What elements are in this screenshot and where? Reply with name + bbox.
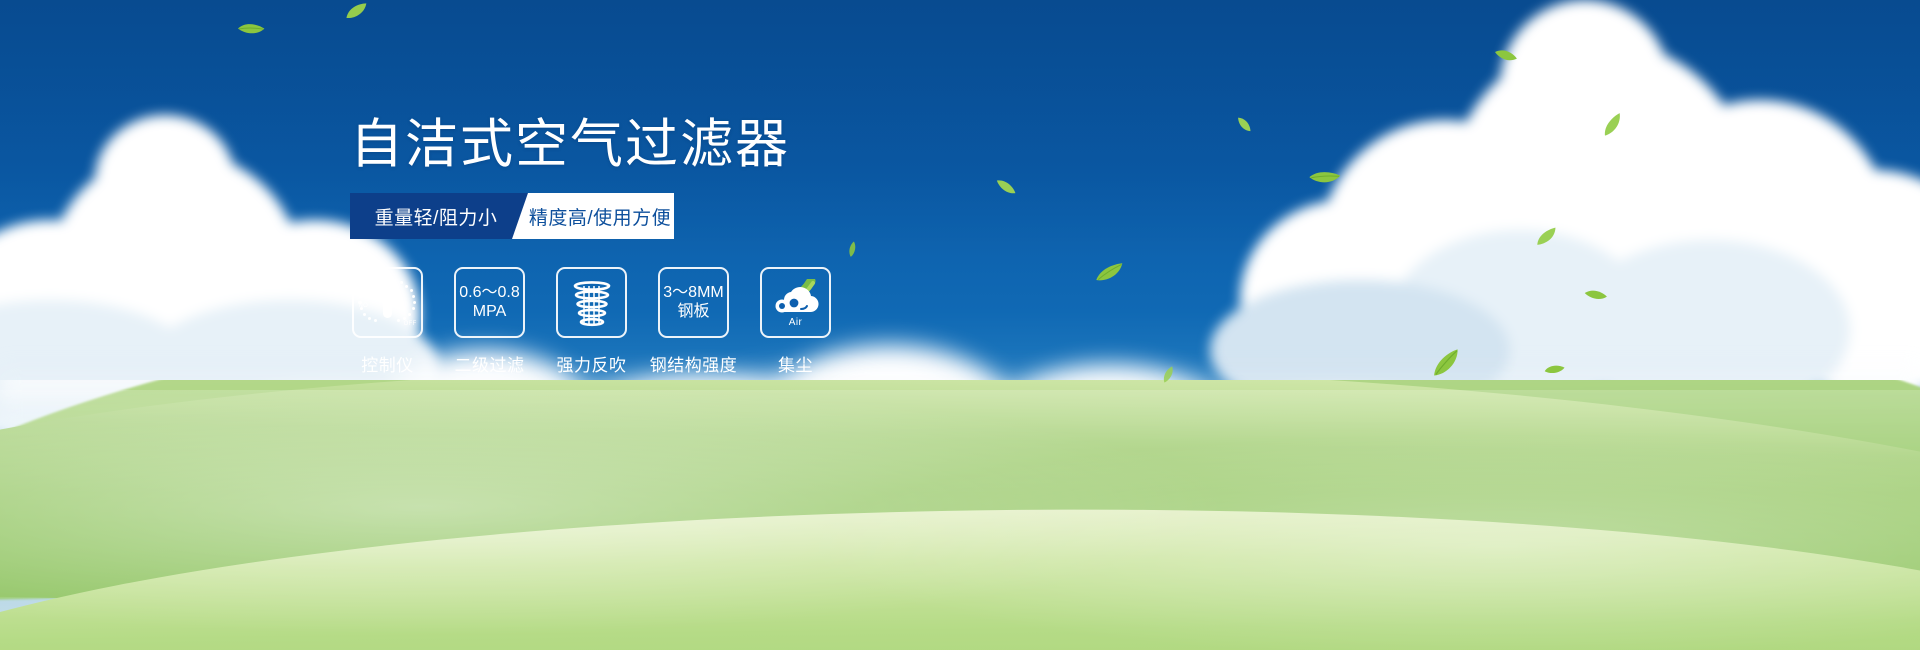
- steel-plate-text-icon: 3～8MM 钢板: [661, 284, 725, 322]
- banner-content: 自洁式空气过滤器 重量轻/阻力小 精度高/使用方便: [350, 0, 910, 376]
- feature-box-controller: NO OFF: [352, 267, 423, 338]
- feature-caption-dust: 集尘: [778, 351, 813, 376]
- badge-lightweight: 重量轻/阻力小: [350, 193, 528, 239]
- feature-item-filtration: 0.6～0.8 MPA 二级过滤: [452, 267, 527, 376]
- feature-caption-backblow: 强力反吹: [557, 351, 627, 376]
- control-dial-icon: NO OFF: [360, 277, 416, 329]
- title-wrap: 自洁式空气过滤器: [350, 0, 790, 171]
- grass-field: [0, 380, 1920, 650]
- feature-item-backblow: 强力反吹: [554, 267, 629, 376]
- dial-label-no: NO: [359, 303, 369, 310]
- feature-box-pressure: 0.6～0.8 MPA: [454, 267, 525, 338]
- feature-item-dust: Air 集尘: [758, 267, 833, 376]
- coil-filter-icon: [569, 278, 615, 328]
- feature-caption-steel: 钢结构强度: [650, 351, 738, 376]
- feature-row: NO OFF 控制仪 0.6～0.8 MPA 二级过滤: [350, 267, 910, 376]
- feature-box-coil: [556, 267, 627, 338]
- hero-banner: 自洁式空气过滤器 重量轻/阻力小 精度高/使用方便: [0, 0, 1920, 650]
- badge-row: 重量轻/阻力小 精度高/使用方便: [350, 193, 674, 239]
- cloud-air-icon: Air: [767, 279, 825, 327]
- pressure-text-icon: 0.6～0.8 MPA: [457, 284, 522, 322]
- badge-precision: 精度高/使用方便: [512, 193, 674, 239]
- feature-item-controller: NO OFF 控制仪: [350, 267, 425, 376]
- feature-box-air: Air: [760, 267, 831, 338]
- feature-item-steel: 3～8MM 钢板 钢结构强度: [656, 267, 731, 376]
- feature-caption-filtration: 二级过滤: [455, 351, 525, 376]
- feature-caption-controller: 控制仪: [361, 351, 414, 376]
- page-title: 自洁式空气过滤器: [350, 0, 790, 171]
- title-leaf-icon: [675, 0, 721, 5]
- dial-label-off: OFF: [404, 321, 417, 328]
- feature-box-steel: 3～8MM 钢板: [658, 267, 729, 338]
- air-label: Air: [767, 317, 825, 329]
